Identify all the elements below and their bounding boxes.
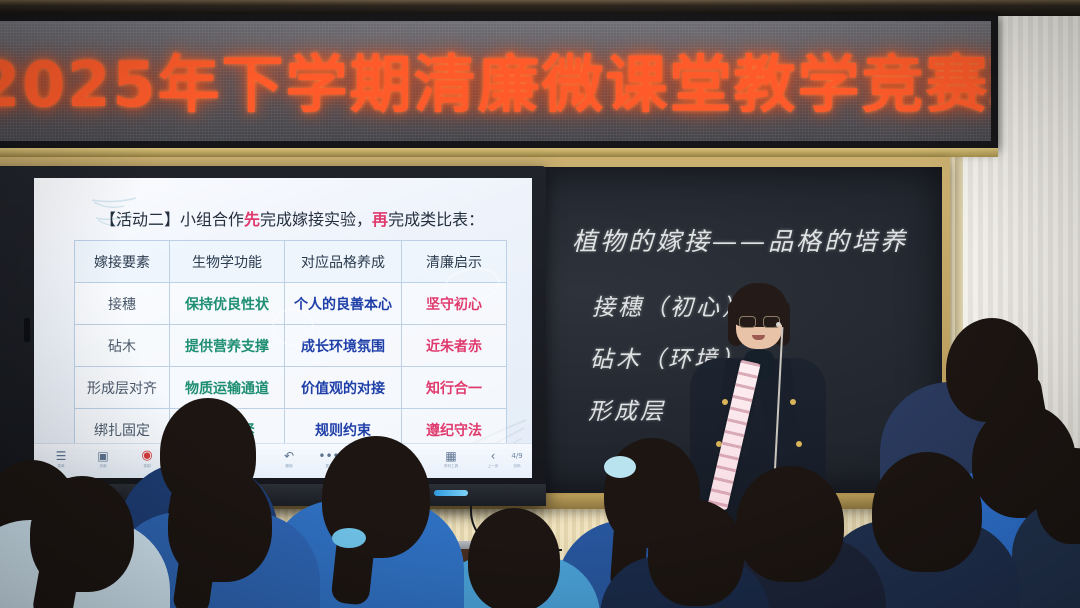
hair-scrunchie <box>332 528 366 548</box>
led-banner-frame: 2025年下学期清廉微课堂教学竞赛现场 <box>0 14 998 148</box>
led-banner-panel: 2025年下学期清廉微课堂教学竞赛现场 <box>0 21 991 141</box>
hair-bow <box>604 456 636 478</box>
table-header-cell: 嫁接要素 <box>75 241 170 283</box>
blackboard-line-3: 形成层 <box>588 392 666 426</box>
pages-icon[interactable]: ▣ 页面 <box>86 449 120 469</box>
slide-title-highlight-1: 先 <box>244 210 260 229</box>
slide-title-suffix: 完成类比表： <box>388 210 484 229</box>
student-head <box>648 500 744 606</box>
table-cell-element: 形成层对齐 <box>75 367 170 409</box>
slide-title-highlight-2: 再 <box>372 210 388 229</box>
table-cell-biology: 提供营养支撑 <box>170 325 285 367</box>
table-header-cell: 生物学功能 <box>170 241 285 283</box>
blackboard-line-1: 接穗（初心） <box>592 288 748 322</box>
table-header-row: 嫁接要素 生物学功能 对应品格养成 清廉启示 <box>75 241 507 283</box>
ceiling-trim <box>0 0 1080 6</box>
student-head <box>168 466 272 582</box>
table-cell-element: 砧木 <box>75 325 170 367</box>
blazer-button <box>790 399 796 405</box>
blazer-button <box>796 441 802 447</box>
smartboard-toolbar: ☰ 菜单 ▣ 页面 ◉ 录制 ◥ 擦除 ↶ 撤销 <box>34 443 532 478</box>
student-head <box>736 466 844 582</box>
table-cell-insight: 近朱者赤 <box>402 325 507 367</box>
smartboard-bezel: 【活动二】小组合作先完成嫁接实验，再完成类比表： 嫁接要素 生物学功能 对应品格… <box>0 166 546 506</box>
led-banner-text: 2025年下学期清廉微课堂教学竞赛现场 <box>0 34 991 124</box>
student-head <box>468 508 560 608</box>
table-cell-biology: 保持优良性状 <box>170 283 285 325</box>
blackboard-title: 植物的嫁接——品格的培养 <box>572 222 908 258</box>
table-header-cell: 对应品格养成 <box>285 241 402 283</box>
microphone-icon <box>776 322 781 327</box>
smartboard-screen[interactable]: 【活动二】小组合作先完成嫁接实验，再完成类比表： 嫁接要素 生物学功能 对应品格… <box>34 178 532 478</box>
smartboard-side-button[interactable] <box>24 318 30 342</box>
table-cell-insight: 知行合一 <box>402 367 507 409</box>
apps-icon[interactable]: ▦ 学科工具 <box>434 449 468 469</box>
smartboard-status-led <box>434 490 468 496</box>
annotation-circle <box>272 308 314 346</box>
table-cell-element: 接穗 <box>75 283 170 325</box>
classroom-scene: 2025年下学期清廉微课堂教学竞赛现场 植物的嫁接——品格的培养 接穗（初心） … <box>0 0 1080 608</box>
student-head <box>30 476 134 592</box>
slide-title-prefix: 【活动二】小组合作 <box>100 210 244 229</box>
table-row: 形成层对齐 物质运输通道 价值观的对接 知行合一 <box>75 367 507 409</box>
record-icon[interactable]: ◉ 录制 <box>130 449 164 469</box>
led-banner-bottom-trim <box>0 148 998 157</box>
student-head <box>872 452 982 572</box>
table-cell-character: 价值观的对接 <box>285 367 402 409</box>
slide-title: 【活动二】小组合作先完成嫁接实验，再完成类比表： <box>100 206 484 230</box>
next-page-button[interactable]: › 下一页 <box>522 449 532 469</box>
glasses-icon <box>739 316 780 326</box>
blazer-button <box>722 399 728 405</box>
undo-icon[interactable]: ↶ 撤销 <box>272 449 306 469</box>
slide-title-middle: 完成嫁接实验， <box>260 210 372 229</box>
